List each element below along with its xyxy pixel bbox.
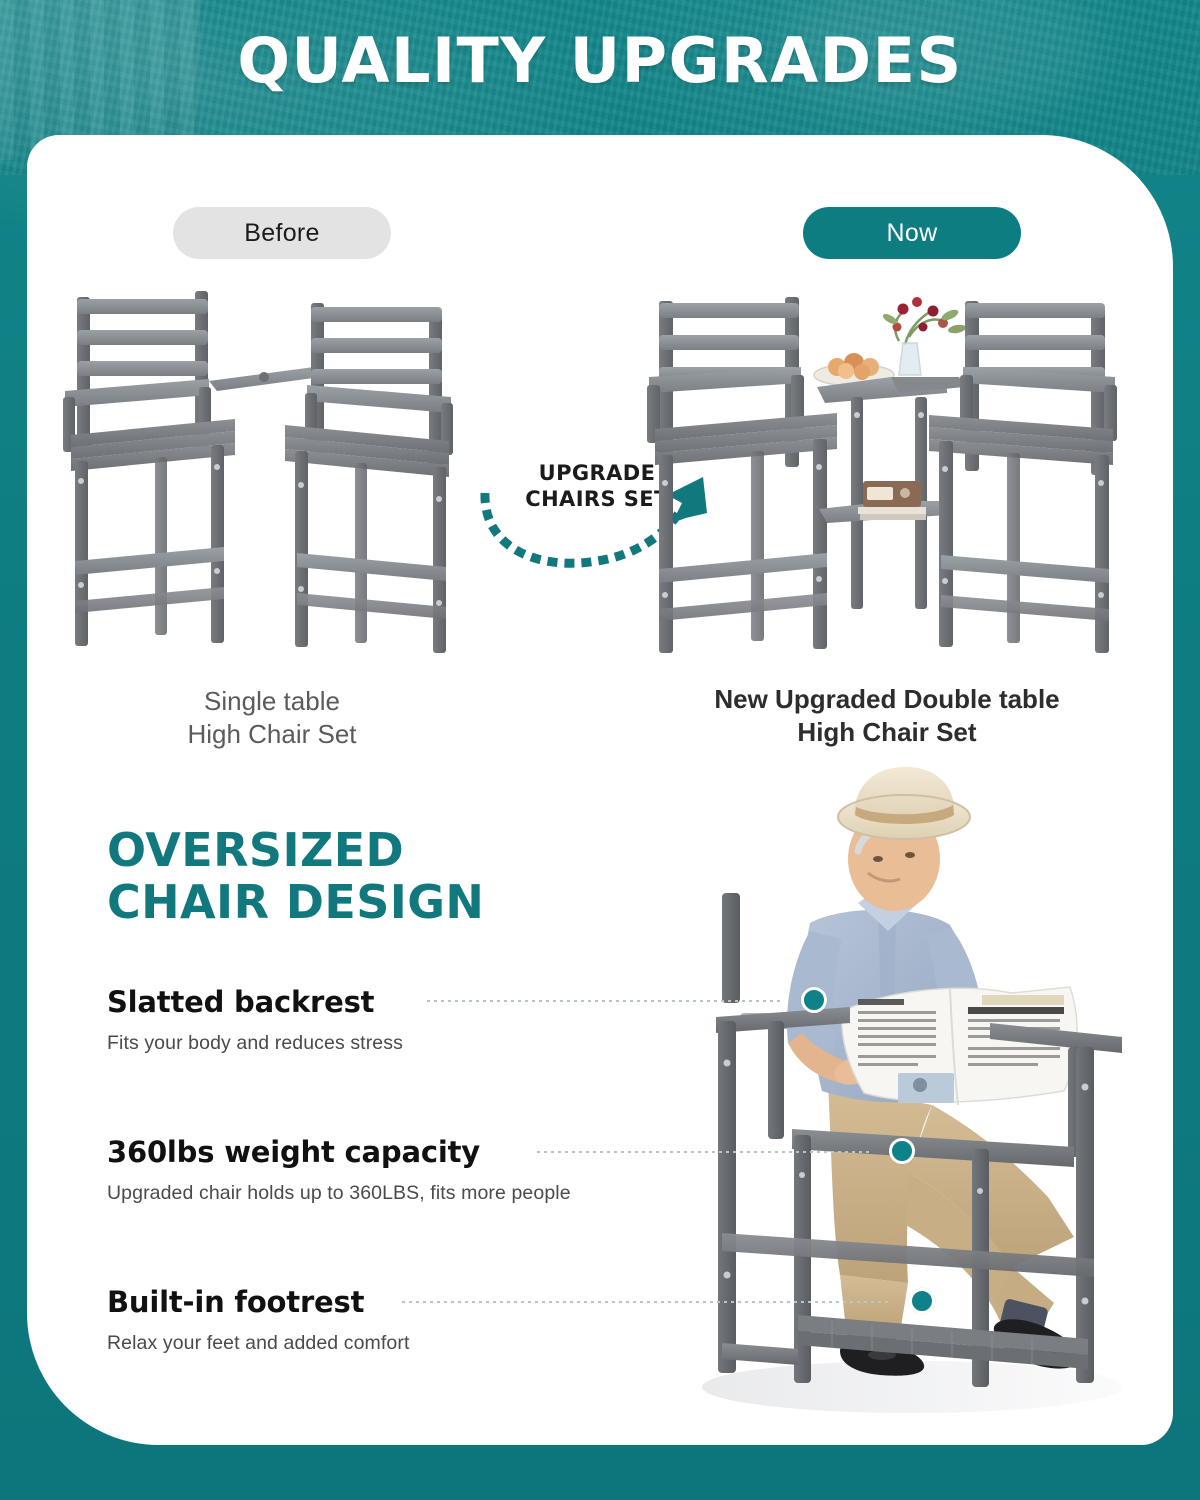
caption-now-line1: New Upgraded Double table — [714, 684, 1059, 714]
design-heading: OVERSIZED CHAIR DESIGN — [107, 825, 484, 928]
design-heading-line1: OVERSIZED — [107, 823, 404, 877]
feature-item-3: Built-in footrest Relax your feet and ad… — [107, 1285, 409, 1355]
upgrade-line-1: UPGRADE — [539, 461, 656, 485]
content-card: Before Now — [27, 135, 1173, 1445]
hotspot-dot-backrest[interactable] — [801, 987, 827, 1013]
feature-3-desc: Relax your feet and added comfort — [107, 1332, 409, 1355]
chair-right-now — [929, 301, 1117, 653]
seated-man-photo — [682, 755, 1172, 1445]
caption-before-line1: Single table — [204, 686, 340, 716]
caption-now: New Upgraded Double table High Chair Set — [627, 683, 1147, 750]
chair-left-now — [647, 297, 837, 653]
leader-line-1 — [427, 1000, 782, 1002]
badge-before[interactable]: Before — [173, 207, 391, 259]
man-on-chair-illustration — [682, 755, 1172, 1445]
newspaper — [842, 987, 1077, 1105]
chairs-before-illustration — [59, 285, 459, 675]
hotspot-dot-footrest[interactable] — [909, 1288, 935, 1314]
leader-line-2 — [537, 1151, 872, 1153]
caption-now-line2: High Chair Set — [797, 717, 976, 747]
hotspot-dot-weight-capacity[interactable] — [889, 1138, 915, 1164]
product-image-now — [647, 275, 1117, 675]
design-heading-line2: CHAIR DESIGN — [107, 875, 484, 929]
flower-vase-decor — [881, 297, 966, 375]
feature-item-1: Slatted backrest Fits your body and redu… — [107, 985, 403, 1055]
feature-item-2: 360lbs weight capacity Upgraded chair ho… — [107, 1135, 571, 1205]
feature-2-desc: Upgraded chair holds up to 360LBS, fits … — [107, 1182, 571, 1205]
feature-3-title: Built-in footrest — [107, 1285, 409, 1319]
single-table-before — [209, 367, 321, 391]
badge-before-label: Before — [244, 219, 319, 248]
chairs-now-illustration — [647, 275, 1117, 675]
feature-1-title: Slatted backrest — [107, 985, 403, 1019]
chair-right-before — [285, 303, 453, 653]
badge-now-label: Now — [887, 219, 938, 248]
feature-2-title: 360lbs weight capacity — [107, 1135, 571, 1169]
caption-before: Single table High Chair Set — [82, 685, 462, 752]
product-image-before — [59, 285, 459, 675]
leader-line-3 — [402, 1301, 892, 1303]
page-title: QUALITY UPGRADES — [0, 24, 1200, 97]
feature-1-desc: Fits your body and reduces stress — [107, 1032, 403, 1055]
chair-left-before — [63, 291, 235, 646]
badge-now[interactable]: Now — [803, 207, 1021, 259]
books-radio-decor — [858, 481, 926, 520]
caption-before-line2: High Chair Set — [187, 719, 356, 749]
